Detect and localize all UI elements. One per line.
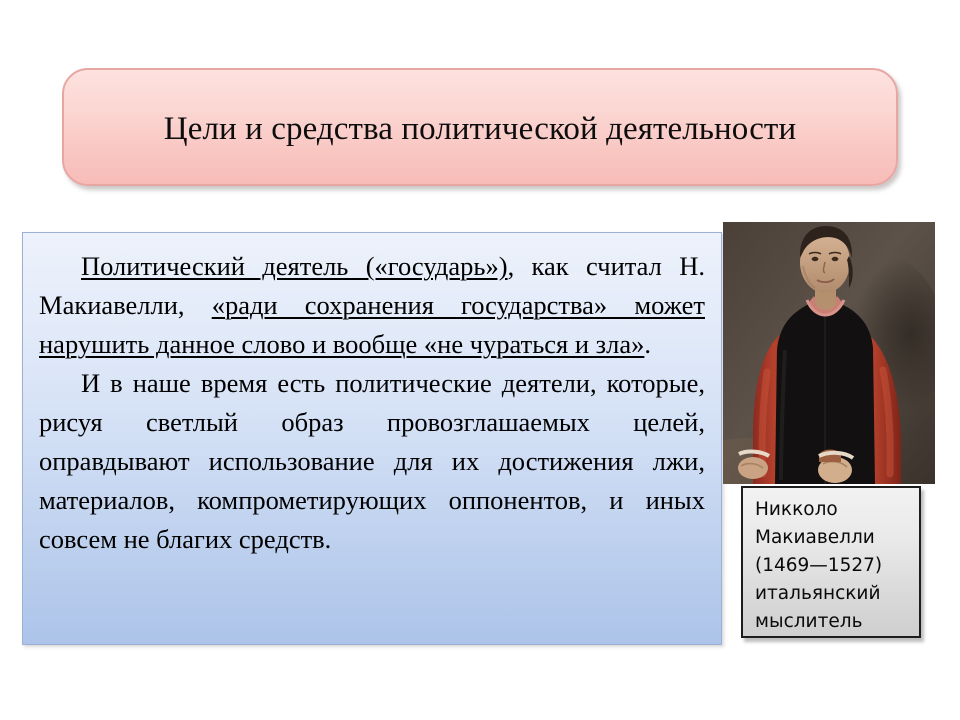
figure-caption-box: Никколо Макиавелли (1469—1527) итальянск…: [741, 486, 921, 638]
figure-caption-text: Никколо Макиавелли (1469—1527) итальянск…: [755, 496, 909, 636]
body-paragraph-2: И в наше время есть политические деятели…: [39, 364, 705, 559]
paragraph1-plain-segment-2: .: [644, 329, 651, 359]
slide-body-textbox: Политический деятель («государь»), как с…: [22, 232, 722, 645]
body-paragraph-1: Политический деятель («государь»), как с…: [39, 247, 705, 364]
page-title: Цели и средства политической деятельност…: [164, 109, 796, 146]
paragraph1-underlined-segment-1: Политический деятель («государь»): [81, 251, 508, 281]
portrait-illustration: [723, 222, 935, 484]
slide-title-banner: Цели и средства политической деятельност…: [62, 68, 898, 186]
portrait-machiavelli-image: [723, 222, 935, 484]
